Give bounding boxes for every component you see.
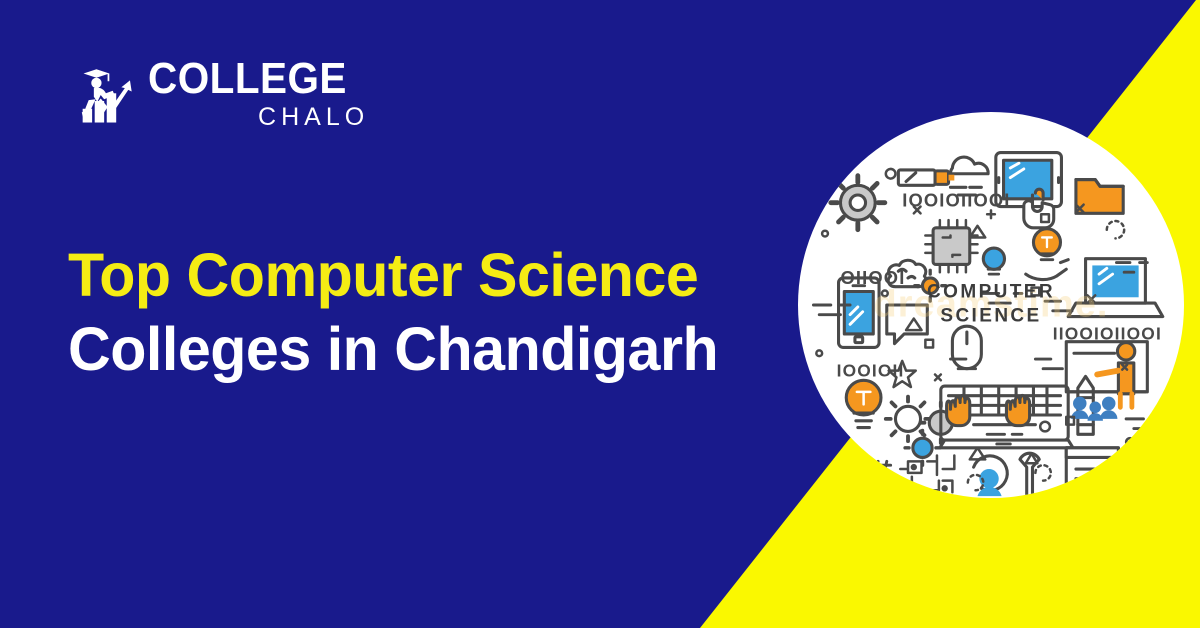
- brand-name-secondary: CHALO: [258, 104, 369, 132]
- binary-string-right: IIOOIOIIOOI: [1053, 324, 1162, 344]
- microchip-icon: [925, 220, 977, 272]
- headline: Top Computer Science Colleges in Chandig…: [68, 238, 738, 387]
- mouse-icon: [952, 326, 981, 368]
- computer-science-illustration: IOOIOIIOOI OIIOOI IOOIOII IIOOIOIIOOI dr…: [798, 112, 1184, 498]
- smartphone-icon: [839, 278, 880, 347]
- promo-banner: COLLEGE CHALO Top Computer Science Colle…: [0, 0, 1200, 628]
- binary-string-left: OIIOOI: [840, 267, 905, 288]
- gear-icon: [905, 430, 940, 465]
- center-label-line-1: COMPUTER: [927, 281, 1055, 305]
- center-label-line-2: SCIENCE: [927, 305, 1055, 329]
- lightbulb-orange-icon: [1033, 229, 1060, 260]
- hand-offering-icon: [1026, 260, 1068, 280]
- brand-logo[interactable]: COLLEGE CHALO: [56, 52, 364, 138]
- gear-icon: [831, 176, 885, 230]
- binary-string-bottom-left: IOOIOII: [837, 360, 905, 380]
- lightbulb-orange-icon: [846, 380, 881, 427]
- brand-name-primary: COLLEGE: [148, 58, 347, 100]
- brand-logo-wordmark: COLLEGE CHALO: [148, 58, 364, 131]
- graduate-runner-bars-emblem-icon: [56, 52, 142, 138]
- cloud-icon: [950, 157, 988, 174]
- speech-bubble-icon: [887, 305, 928, 344]
- folder-icon: [1076, 180, 1123, 214]
- keyboard-hands-icon: [940, 386, 1073, 448]
- headline-line-2: Colleges in Chandigarh: [68, 312, 718, 386]
- laptop-icon: [1068, 259, 1163, 317]
- headline-line-1: Top Computer Science: [68, 238, 718, 312]
- binary-string-top: IOOIOIIOOI: [902, 190, 1010, 211]
- illustration-center-label: COMPUTER SCIENCE: [927, 281, 1055, 330]
- lightbulb-blue-icon: [983, 248, 1004, 274]
- usb-drive-icon: [898, 170, 954, 185]
